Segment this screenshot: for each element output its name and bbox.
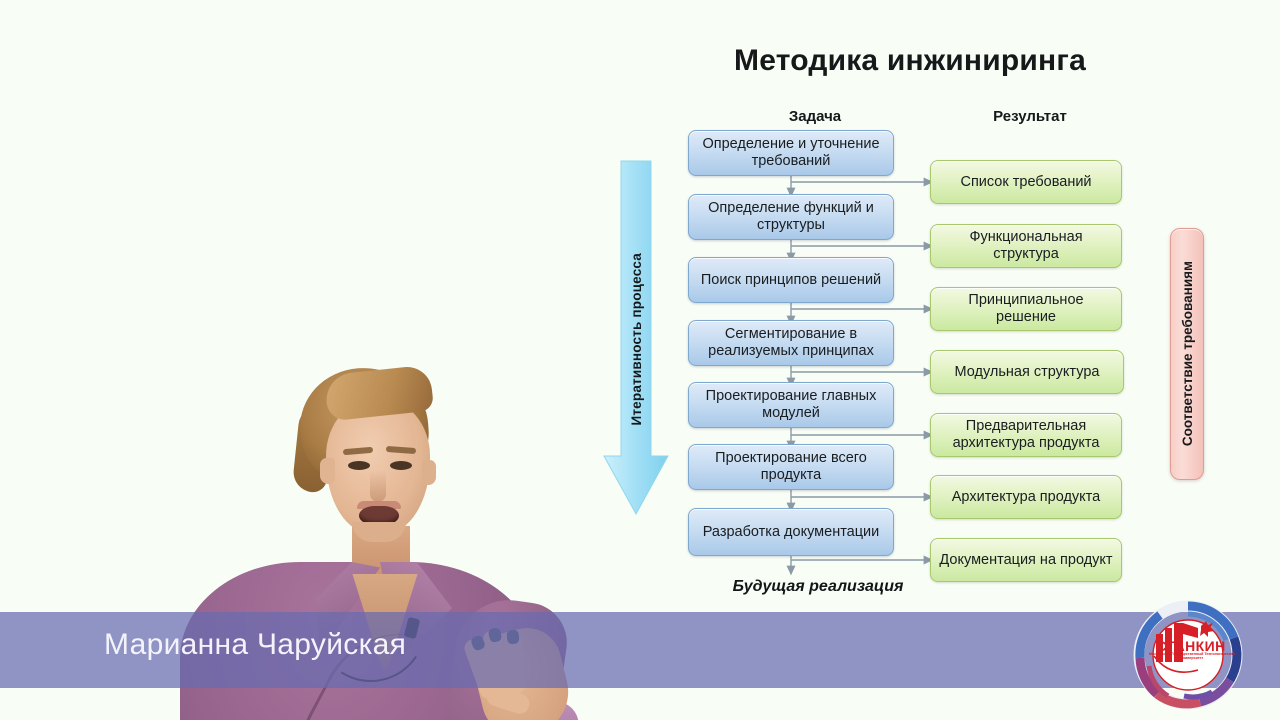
task-node-label: Поиск принципов решений [701, 272, 881, 289]
result-node[interactable]: Документация на продукт [930, 538, 1122, 582]
result-node-label: Предварительная архитектура продукта [937, 418, 1115, 452]
result-node-label: Архитектура продукта [952, 489, 1100, 506]
task-node[interactable]: Проектирование главных модулей [688, 382, 894, 428]
task-node-label: Определение функций и структуры [695, 200, 887, 234]
result-node[interactable]: Предварительная архитектура продукта [930, 413, 1122, 457]
task-node-label: Разработка документации [703, 524, 880, 541]
result-node[interactable]: Архитектура продукта [930, 475, 1122, 519]
result-node-label: Документация на продукт [939, 552, 1112, 569]
future-implementation-label: Будущая реализация [688, 578, 948, 596]
task-node[interactable]: Определение функций и структуры [688, 194, 894, 240]
task-node[interactable]: Поиск принципов решений [688, 257, 894, 303]
result-node-label: Принципиальное решение [937, 292, 1115, 326]
conformance-bar-label: Соответствие требованиям [1180, 261, 1195, 446]
result-node-label: Список требований [960, 174, 1091, 191]
task-node-label: Проектирование главных модулей [695, 388, 887, 422]
presenter-ear-left [320, 458, 335, 484]
result-node-label: Модульная структура [955, 364, 1100, 381]
task-node[interactable]: Проектирование всего продукта [688, 444, 894, 490]
slide-diagram: Методика инжиниринга Задача Результат [560, 0, 1280, 612]
result-node[interactable]: Модульная структура [930, 350, 1124, 394]
task-node-label: Сегментирование в реализуемых принципах [695, 326, 887, 360]
video-frame: Методика инжиниринга Задача Результат [0, 0, 1280, 720]
result-node[interactable]: Список требований [930, 160, 1122, 204]
task-node-label: Определение и уточнение требований [695, 136, 887, 170]
task-node[interactable]: Определение и уточнение требований [688, 130, 894, 176]
presenter-eye-right [390, 461, 412, 470]
task-node-label: Проектирование всего продукта [695, 450, 887, 484]
result-node[interactable]: Функциональная структура [930, 224, 1122, 268]
presenter-ear-right [422, 460, 436, 485]
presenter-name: Марианна Чаруйская [104, 628, 406, 662]
task-node[interactable]: Разработка документации [688, 508, 894, 556]
conformance-bar: Соответствие требованиям [1170, 228, 1204, 480]
logo-subtitle: Московский Государственный Технологическ… [1146, 652, 1238, 661]
iteration-arrow-label: Итеративность процесса [600, 160, 672, 518]
task-node[interactable]: Сегментирование в реализуемых принципах [688, 320, 894, 366]
presenter-nose [370, 470, 386, 502]
presenter-eye-left [348, 461, 370, 470]
result-node[interactable]: Принципиальное решение [930, 287, 1122, 331]
result-node-label: Функциональная структура [937, 229, 1115, 263]
